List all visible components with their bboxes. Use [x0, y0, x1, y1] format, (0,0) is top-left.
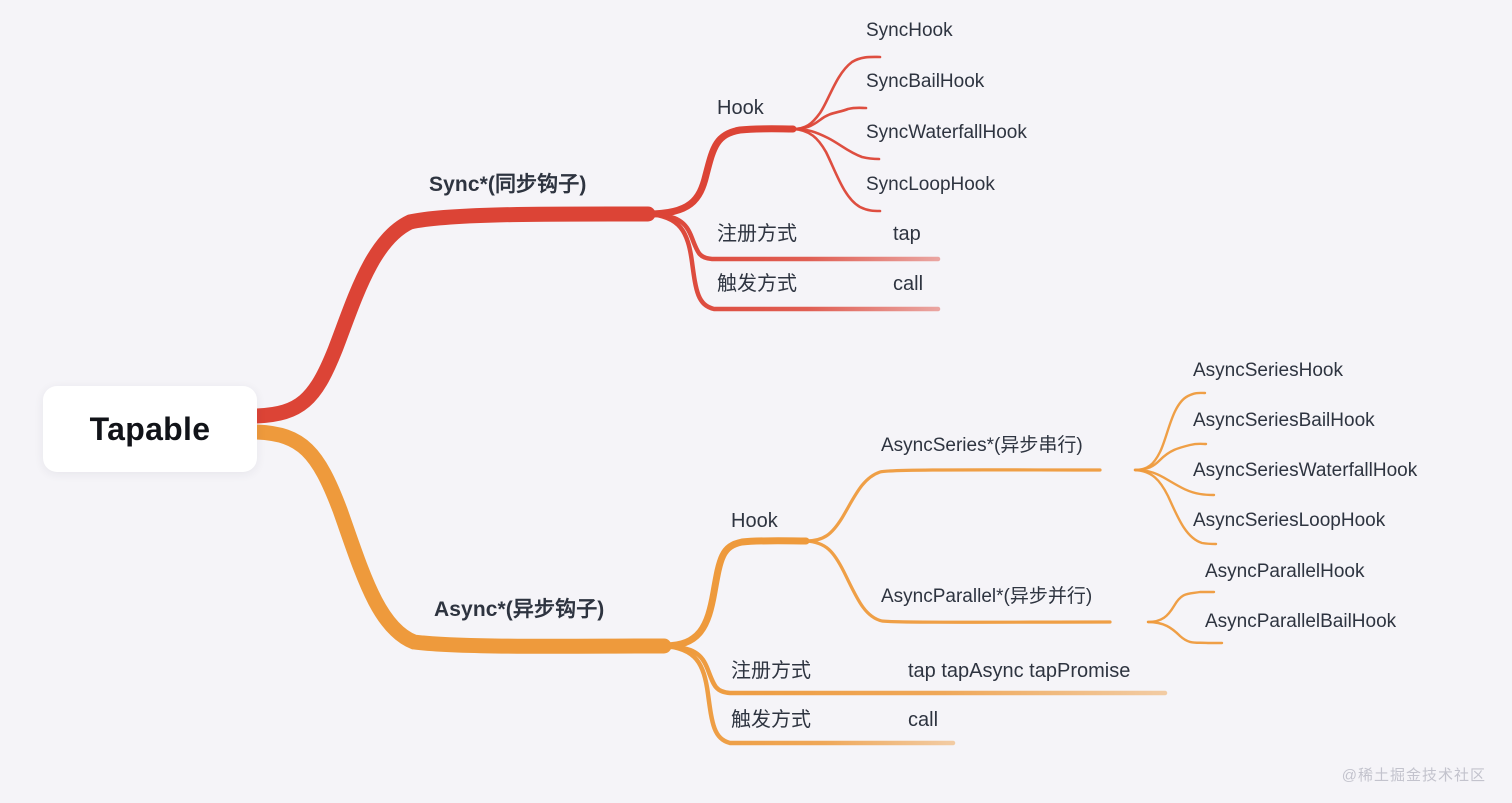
mindmap-canvas: Tapable Sync*(同步钩子) Hook SyncHook SyncBa…: [0, 0, 1512, 803]
branch-label-sync[interactable]: Sync*(同步钩子): [429, 174, 586, 195]
leaf-async-parallel-bail-hook[interactable]: AsyncParallelBailHook: [1205, 612, 1396, 631]
leaf-async-series-bail-hook[interactable]: AsyncSeriesBailHook: [1193, 411, 1375, 430]
node-sync-trigger-label[interactable]: 触发方式: [717, 274, 797, 294]
leaf-async-series-hook[interactable]: AsyncSeriesHook: [1193, 361, 1343, 380]
branch-label-async[interactable]: Async*(异步钩子): [434, 599, 604, 620]
node-sync-register-label[interactable]: 注册方式: [717, 224, 797, 244]
node-async-parallel[interactable]: AsyncParallel*(异步并行): [881, 587, 1092, 606]
watermark: @稀土掘金技术社区: [1342, 764, 1486, 785]
node-async-hook[interactable]: Hook: [731, 511, 778, 531]
root-node[interactable]: Tapable: [43, 386, 257, 472]
leaf-sync-waterfall-hook[interactable]: SyncWaterfallHook: [866, 123, 1027, 142]
node-async-trigger-value[interactable]: call: [908, 710, 938, 730]
leaf-sync-bail-hook[interactable]: SyncBailHook: [866, 72, 984, 91]
node-sync-hook[interactable]: Hook: [717, 98, 764, 118]
root-node-label: Tapable: [90, 411, 211, 448]
leaf-async-series-loop-hook[interactable]: AsyncSeriesLoopHook: [1193, 511, 1385, 530]
node-async-register-value[interactable]: tap tapAsync tapPromise: [908, 661, 1130, 681]
node-async-trigger-label[interactable]: 触发方式: [731, 710, 811, 730]
node-async-series[interactable]: AsyncSeries*(异步串行): [881, 436, 1083, 455]
branch-line-sync: [257, 57, 1054, 416]
leaf-async-parallel-hook[interactable]: AsyncParallelHook: [1205, 562, 1364, 581]
node-sync-register-value[interactable]: tap: [893, 224, 921, 244]
leaf-async-series-waterfall-hook[interactable]: AsyncSeriesWaterfallHook: [1193, 461, 1417, 480]
leaf-sync-loop-hook[interactable]: SyncLoopHook: [866, 175, 995, 194]
node-sync-trigger-value[interactable]: call: [893, 274, 923, 294]
leaf-sync-hook[interactable]: SyncHook: [866, 21, 953, 40]
node-async-register-label[interactable]: 注册方式: [731, 661, 811, 681]
